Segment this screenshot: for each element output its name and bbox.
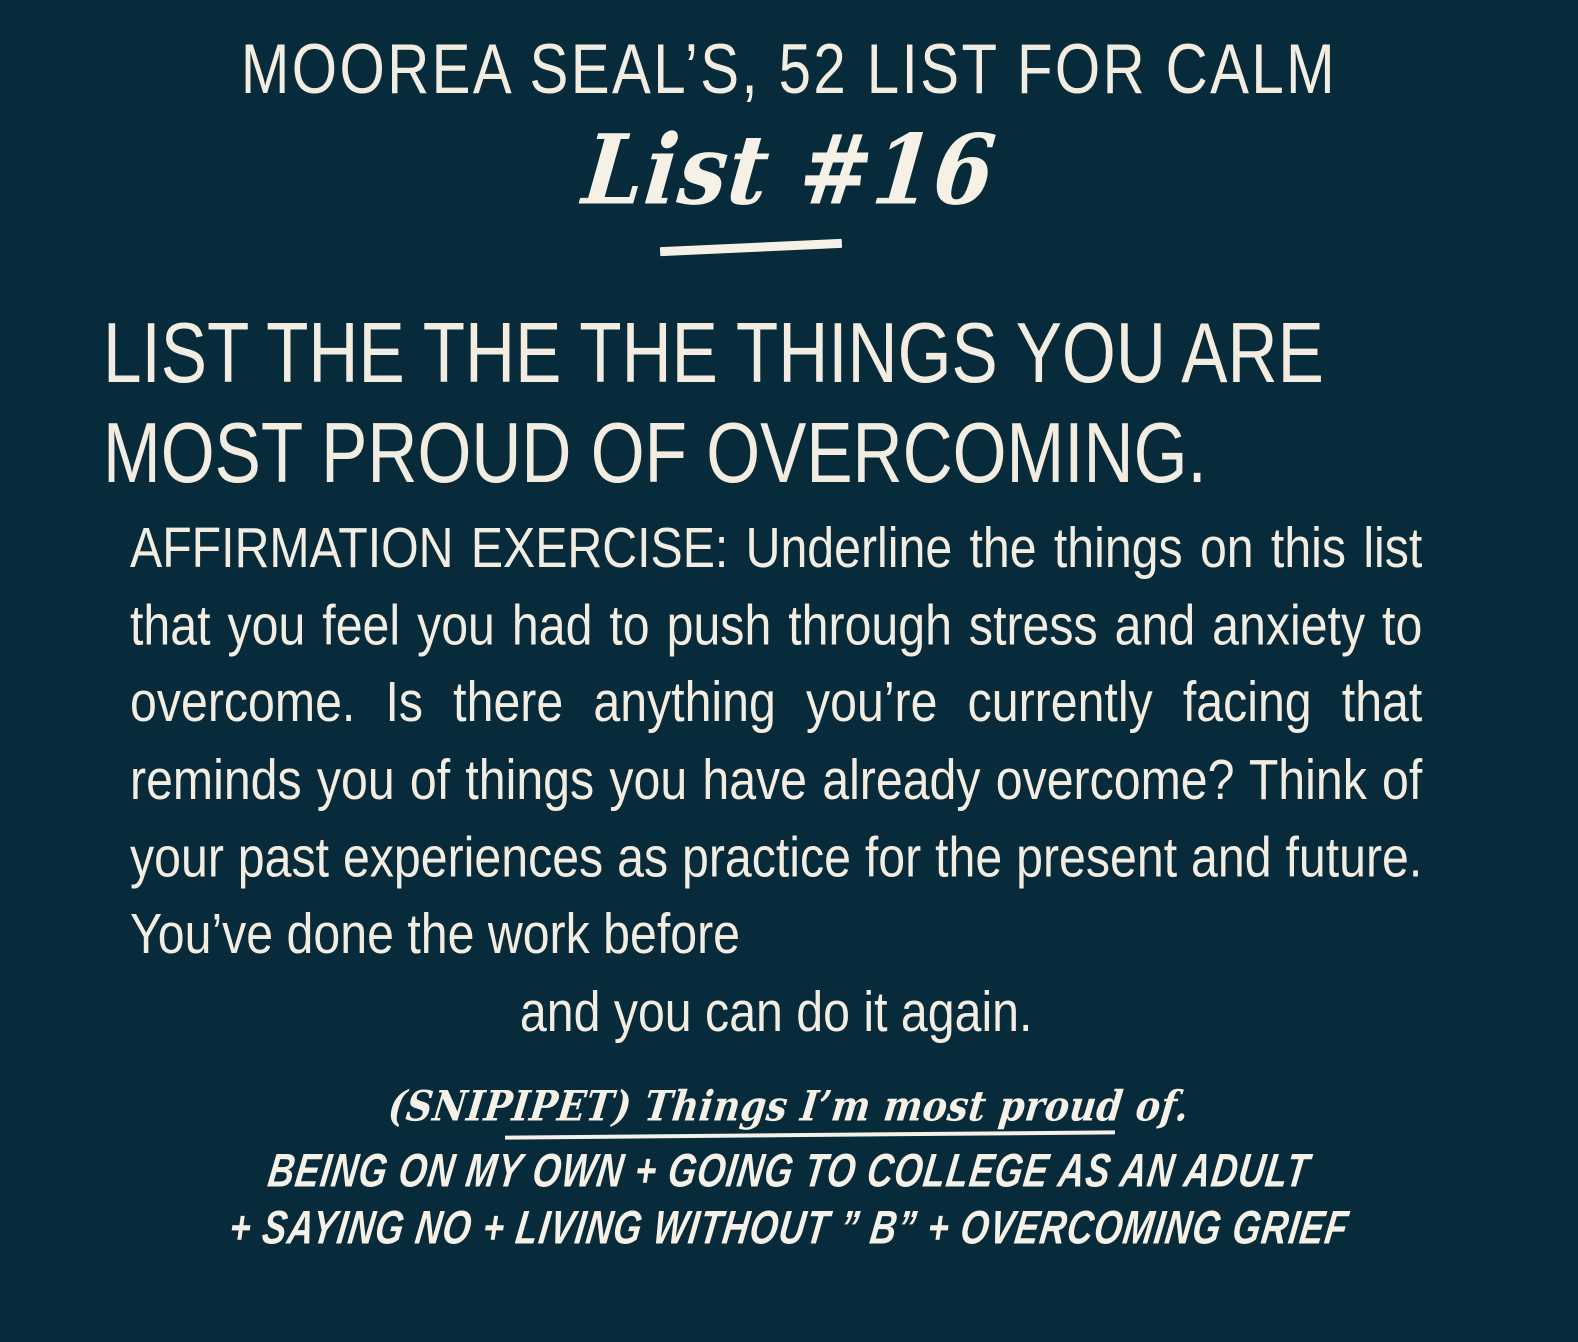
snippet-title-container: (SNIPIPET) Things I’m most proud of. — [0, 1085, 1578, 1128]
brand-header: MOOREA SEAL’S, 52 LIST FOR CALM — [24, 34, 1555, 105]
affirmation-exercise-text: AFFIRMATION EXERCISE: Underline the thin… — [130, 510, 1422, 1051]
list-number-underline-stroke — [660, 239, 842, 256]
list-number-script: List #16 — [578, 123, 999, 219]
snippet-title: (SNIPIPET) Things I’m most proud of. — [386, 1083, 1192, 1130]
snippet-item-list: BEING ON MY OWN + GOING TO COLLEGE AS AN… — [0, 1143, 1578, 1257]
list-item: + SAYING NO + LIVING WITHOUT ” B” + OVER… — [74, 1195, 1504, 1262]
list-number-container: List #16 — [0, 128, 1578, 214]
affirmation-final-line: and you can do it again. — [130, 974, 1422, 1051]
page-title: LIST THE THE THE THINGS YOU ARE MOST PRO… — [103, 304, 1449, 504]
list-card: MOOREA SEAL’S, 52 LIST FOR CALM List #16… — [0, 0, 1578, 1342]
affirmation-paragraph: AFFIRMATION EXERCISE: Underline the thin… — [130, 517, 1422, 966]
